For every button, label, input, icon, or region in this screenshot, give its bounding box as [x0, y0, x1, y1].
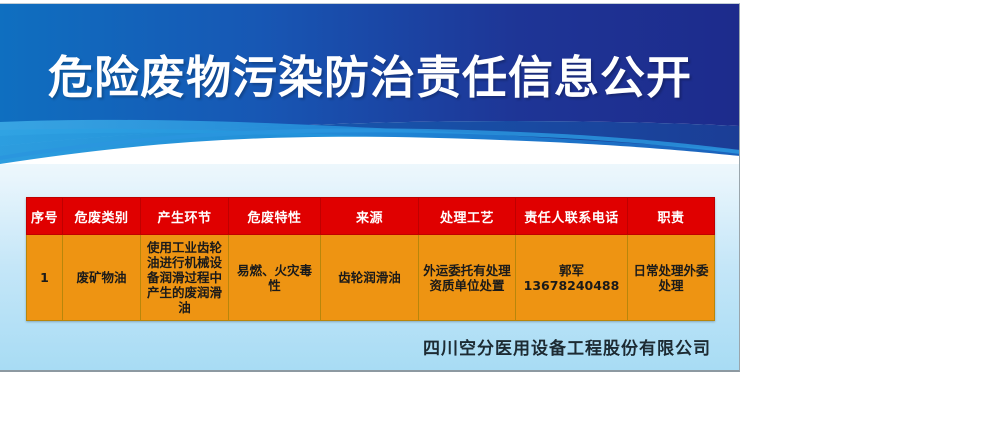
- hazardous-waste-table: 序号 危废类别 产生环节 危废特性 来源 处理工艺 责任人联系电话 职责 1 废…: [26, 197, 715, 321]
- table-header-row: 序号 危废类别 产生环节 危废特性 来源 处理工艺 责任人联系电话 职责: [27, 198, 715, 235]
- column-header-process: 处理工艺: [419, 198, 516, 235]
- column-header-source: 来源: [321, 198, 419, 235]
- cell-category: 废矿物油: [63, 235, 141, 321]
- cell-index: 1: [27, 235, 63, 321]
- hazardous-waste-poster: 危险废物污染防治责任信息公开 序号 危废类别 产生环节 危废特性 来源 处理工艺…: [0, 3, 740, 372]
- cell-contact-name: 郭军: [519, 263, 624, 278]
- column-header-duty: 职责: [628, 198, 715, 235]
- waste-table-container: 序号 危废类别 产生环节 危废特性 来源 处理工艺 责任人联系电话 职责 1 废…: [26, 197, 714, 321]
- cell-process: 外运委托有处理资质单位处置: [419, 235, 516, 321]
- page-title: 危险废物污染防治责任信息公开: [0, 50, 740, 106]
- cell-source: 齿轮润滑油: [321, 235, 419, 321]
- poster-banner: 危险废物污染防治责任信息公开: [0, 4, 740, 164]
- company-name: 四川空分医用设备工程股份有限公司: [423, 334, 711, 359]
- table-row: 1 废矿物油 使用工业齿轮油进行机械设备润滑过程中产生的废润滑油 易燃、火灾毒性…: [27, 235, 715, 321]
- cell-contact-phone: 13678240488: [519, 278, 624, 293]
- column-header-stage: 产生环节: [141, 198, 229, 235]
- column-header-characteristic: 危废特性: [229, 198, 321, 235]
- cell-stage: 使用工业齿轮油进行机械设备润滑过程中产生的废润滑油: [141, 235, 229, 321]
- cell-duty: 日常处理外委处理: [628, 235, 715, 321]
- cell-contact: 郭军 13678240488: [516, 235, 628, 321]
- column-header-category: 危废类别: [63, 198, 141, 235]
- column-header-contact: 责任人联系电话: [516, 198, 628, 235]
- column-header-index: 序号: [27, 198, 63, 235]
- cell-characteristic: 易燃、火灾毒性: [229, 235, 321, 321]
